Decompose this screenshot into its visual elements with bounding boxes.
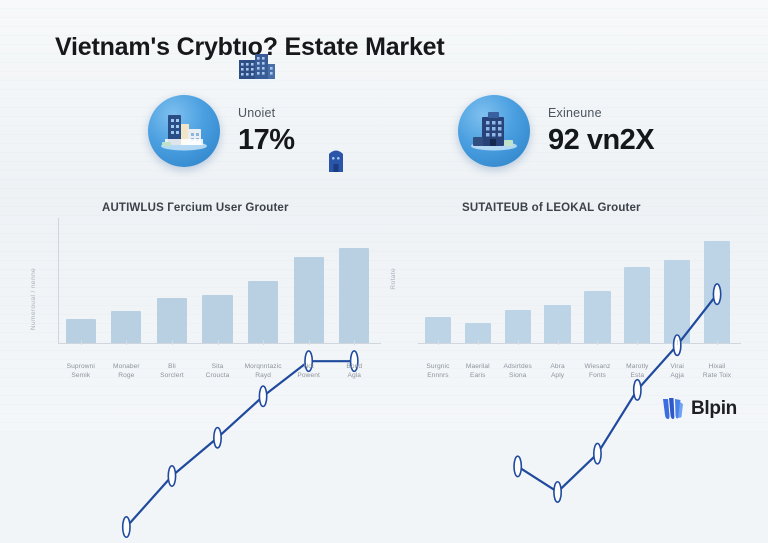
chart-left-x-labels: SuprowniSemikMonaberRogeBliSorclertSitaC… [58,362,377,380]
trend-polyline [518,294,717,492]
axis-tick [458,340,498,345]
x-axis-label: AbraAply [538,362,578,380]
axis-tick [149,340,195,345]
trend-marker [634,380,641,400]
chart-right-trend-line [418,224,737,543]
chart-panel-left: AUTIWLUS Гercium User Grouter Numeroual … [28,196,383,396]
axis-tick [498,340,538,345]
x-axis-label: SuprowniSemik [58,362,104,380]
trend-marker [514,456,521,476]
chart-right-plot-area [418,224,737,344]
axis-tick [418,340,458,345]
trend-marker [594,443,601,463]
chart-left-title: AUTIWLUS Гercium User Grouter [102,202,289,214]
axis-tick [538,340,578,345]
chart-right-ticks [418,340,737,345]
chart-left-trend-line [58,224,377,543]
chart-right-y-axis-label: Rotate [390,268,397,290]
brand-logo-text: Blpin [691,398,737,420]
trend-marker [214,428,221,448]
chart-panel-right: SUTAITEUB of LEOKAL Grouter Rotate Surgn… [388,196,743,396]
x-axis-label: HixailRate Toix [697,362,737,380]
chart-right-title: SUTAITEUB of LEOKAL Grouter [462,202,641,214]
chart-left-y-axis-label: Numeroual / nenne [30,268,37,330]
axis-tick [657,340,697,345]
trend-marker [259,386,266,406]
x-axis-label: MorqnntazicRayd [240,362,286,380]
x-axis-label: BondAgla [331,362,377,380]
x-axis-label: SitaCroucta [195,362,241,380]
office-building-icon [458,95,530,167]
x-axis-label: MaerilalEaris [458,362,498,380]
x-axis-label: SurgnicEnnnrs [418,362,458,380]
axis-tick [240,340,286,345]
axis-tick [331,340,377,345]
stat-card-2: Exineune 92 vn2X [458,95,654,167]
x-axis-label: MarotlyEsta [617,362,657,380]
x-axis-label: NotPowent [286,362,332,380]
chart-right-x-labels: SurgnicEnnnrsMaerilalEarisAdsirtdesSiona… [418,362,737,380]
stat-card-2-value: 92 vn2X [548,126,654,155]
x-axis-label: ViraiAgja [657,362,697,380]
infographic-canvas: Vietnam's Crybtıo? Estate Market [0,0,768,432]
axis-tick [195,340,241,345]
x-axis-label: WiesanzFonts [578,362,618,380]
axis-tick [58,340,104,345]
x-axis-label: AdsirtdesSiona [498,362,538,380]
axis-tick [286,340,332,345]
trend-marker [123,517,130,537]
x-axis-label: BliSorclert [149,362,195,380]
floating-office-building-icon [231,50,279,89]
stat-card-1-label: Unoiet [238,107,295,120]
chart-left-plot-area [58,224,377,344]
brand-logo: Blpin [660,396,737,422]
x-axis-label: MonaberRoge [104,362,150,380]
axis-tick [578,340,618,345]
axis-tick [617,340,657,345]
fan-burst-icon [660,396,684,422]
stat-card-1: Unoiet 17% [148,95,295,167]
trend-polyline [126,361,354,527]
trend-marker [168,466,175,486]
building-house-icon [148,95,220,167]
trend-marker [713,284,720,304]
trend-marker [554,482,561,502]
trend-marker [674,335,681,355]
axis-tick [697,340,737,345]
stat-card-2-text: Exineune 92 vn2X [548,107,654,155]
axis-tick [104,340,150,345]
stat-card-1-value: 17% [238,126,295,155]
stat-card-1-text: Unoiet 17% [238,107,295,155]
chart-left-ticks [58,340,377,345]
stat-card-2-label: Exineune [548,107,654,120]
kiosk-building-icon [326,146,346,179]
